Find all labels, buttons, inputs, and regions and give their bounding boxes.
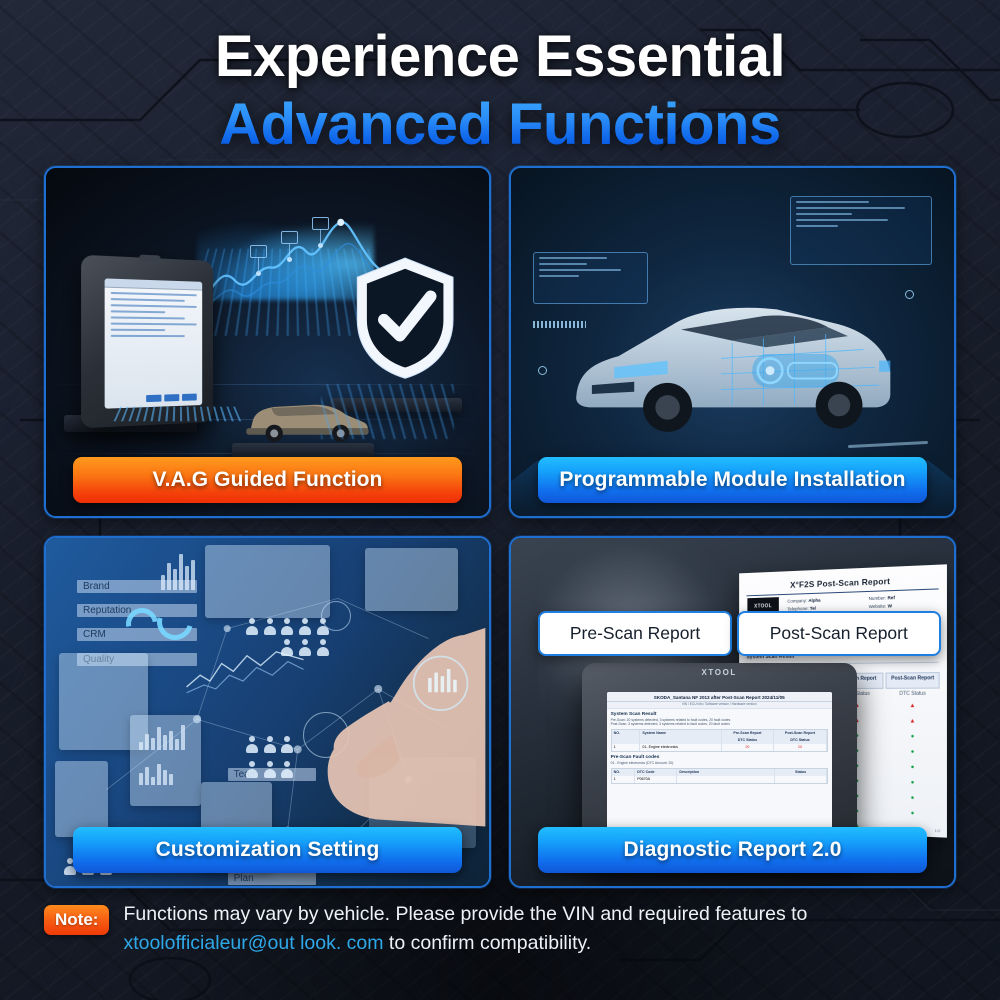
table-row: 1 P0670A bbox=[612, 776, 827, 783]
hud-panel-right bbox=[790, 196, 932, 266]
paper-status-mark: ▲ bbox=[885, 719, 939, 725]
hud-callout-dot-left bbox=[538, 366, 547, 375]
paper-status-mark: ● bbox=[885, 734, 939, 741]
button-vag-guided-function[interactable]: V.A.G Guided Function bbox=[73, 457, 463, 503]
button-diagnostic-report[interactable]: Diagnostic Report 2.0 bbox=[538, 827, 928, 873]
paper-status-mark: ● bbox=[885, 795, 939, 803]
xtool-brand-label: XTOOL bbox=[701, 668, 736, 677]
xray-sedan-vehicle bbox=[555, 276, 909, 443]
note-text: Functions may vary by vehicle. Please pr… bbox=[123, 898, 956, 958]
tablet-postscan-summary: Post-Scan: 3 systems detected, 3 systems… bbox=[607, 722, 832, 726]
paper-page-number: 1/3 bbox=[934, 829, 940, 834]
chip-post-scan-report[interactable]: Post-Scan Report bbox=[737, 611, 941, 656]
button-programmable-module-installation[interactable]: Programmable Module Installation bbox=[538, 457, 928, 503]
headline-secondary: Advanced Functions bbox=[0, 96, 1000, 154]
button-customization-setting[interactable]: Customization Setting bbox=[73, 827, 463, 873]
paper-col-postscan: Post-Scan Report bbox=[885, 672, 939, 689]
note-row: Note: Functions may vary by vehicle. Ple… bbox=[44, 898, 956, 970]
tablet-screen: SKODA_Santana NF 2013 after Post-Scan Re… bbox=[607, 692, 832, 837]
paper-status-mark: ▲ bbox=[885, 703, 939, 709]
chip-pre-scan-report[interactable]: Pre-Scan Report bbox=[538, 611, 733, 656]
dashboard-card-worldmap bbox=[55, 761, 108, 838]
dashboard-label-plan: Plan bbox=[228, 872, 317, 885]
tablet-fault-table: NO. DTC Code Description Status 1 P0670A bbox=[611, 768, 828, 784]
hand-pointing-icon bbox=[294, 601, 491, 852]
feature-panel-customization-setting[interactable]: Brand Reputation CRM Quality Team Plan bbox=[44, 536, 491, 888]
tablet-report-title: SKODA_Santana NF 2013 after Post-Scan Re… bbox=[607, 692, 832, 702]
note-text-before: Functions may vary by vehicle. Please pr… bbox=[123, 903, 807, 925]
feature-panel-diagnostic-report[interactable]: X°F2S Post-Scan Report XTOOL Company: Al… bbox=[509, 536, 956, 888]
feature-panel-programmable-module-installation[interactable]: Programmable Module Installation bbox=[509, 166, 956, 518]
tablet-report-subtitle: VIN / ECU info / Software version / Hard… bbox=[607, 702, 832, 709]
header: Experience Essential Advanced Functions bbox=[0, 0, 1000, 162]
shield-check-icon bbox=[352, 248, 458, 387]
tablet-section-scan-result: System Scan Result bbox=[607, 709, 832, 718]
paper-status-mark: ● bbox=[885, 764, 939, 771]
diagnostic-tablet-device bbox=[82, 255, 214, 429]
tablet-fault-note: 01 - Engine electronics (DTC Amount: 20) bbox=[607, 761, 832, 765]
feature-grid: V.A.G Guided Function bbox=[44, 166, 956, 888]
paper-status-mark: ● bbox=[885, 810, 939, 818]
note-email-link[interactable]: xtoolofficialeur@out look. com bbox=[123, 932, 383, 954]
tablet-section-fault-codes: Pre-Scan Fault codes bbox=[607, 752, 832, 761]
feature-panel-vag-guided-function[interactable]: V.A.G Guided Function bbox=[44, 166, 491, 518]
note-text-after: to confirm compatibility. bbox=[384, 932, 592, 954]
table-row: 1 01- Engine electronics 20 20 bbox=[612, 744, 827, 751]
paper-status-mark: ● bbox=[885, 779, 939, 787]
tablet-scan-table: NO. System Name Pre-Scan Report Post-Sca… bbox=[611, 729, 828, 752]
note-badge: Note: bbox=[44, 905, 109, 935]
paper-status-mark: ● bbox=[885, 749, 939, 756]
headline-primary: Experience Essential bbox=[0, 0, 1000, 86]
